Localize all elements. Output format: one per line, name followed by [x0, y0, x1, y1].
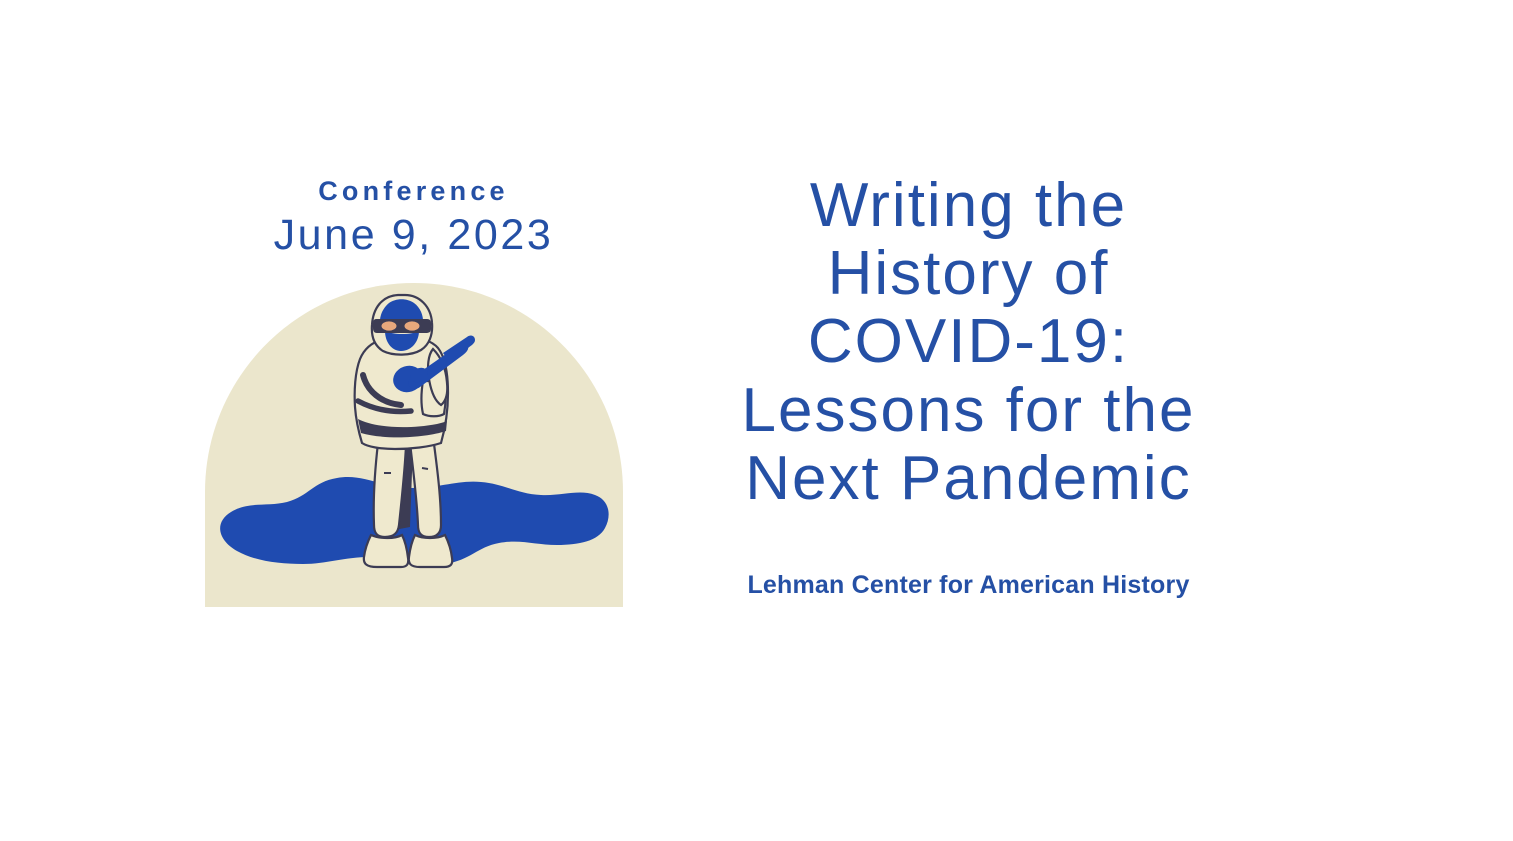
conference-date: June 9, 2023 — [274, 211, 554, 260]
goggle-lens-right — [404, 321, 419, 330]
title-line-2: History of — [660, 240, 1277, 308]
title-line-1: Writing the — [660, 172, 1277, 240]
goggle-lens-left — [381, 321, 396, 330]
title-line-4: Lessons for the — [660, 377, 1277, 445]
leg-detail-dash-right — [422, 468, 428, 469]
left-shoe — [363, 535, 407, 567]
left-panel: Conference June 9, 2023 — [195, 175, 632, 607]
hazmat-worker-illustration — [205, 283, 623, 607]
conference-kicker: Conference — [318, 175, 509, 207]
title-line-5: Next Pandemic — [660, 445, 1277, 513]
title-line-3: COVID-19: — [660, 308, 1277, 376]
illustration-svg — [205, 283, 623, 607]
page-title: Writing the History of COVID-19: Lessons… — [660, 172, 1277, 513]
organization-name: Lehman Center for American History — [660, 571, 1277, 600]
slide-canvas: Conference June 9, 2023 — [0, 0, 1513, 841]
right-shoe — [408, 535, 451, 567]
right-panel: Writing the History of COVID-19: Lessons… — [660, 172, 1277, 600]
